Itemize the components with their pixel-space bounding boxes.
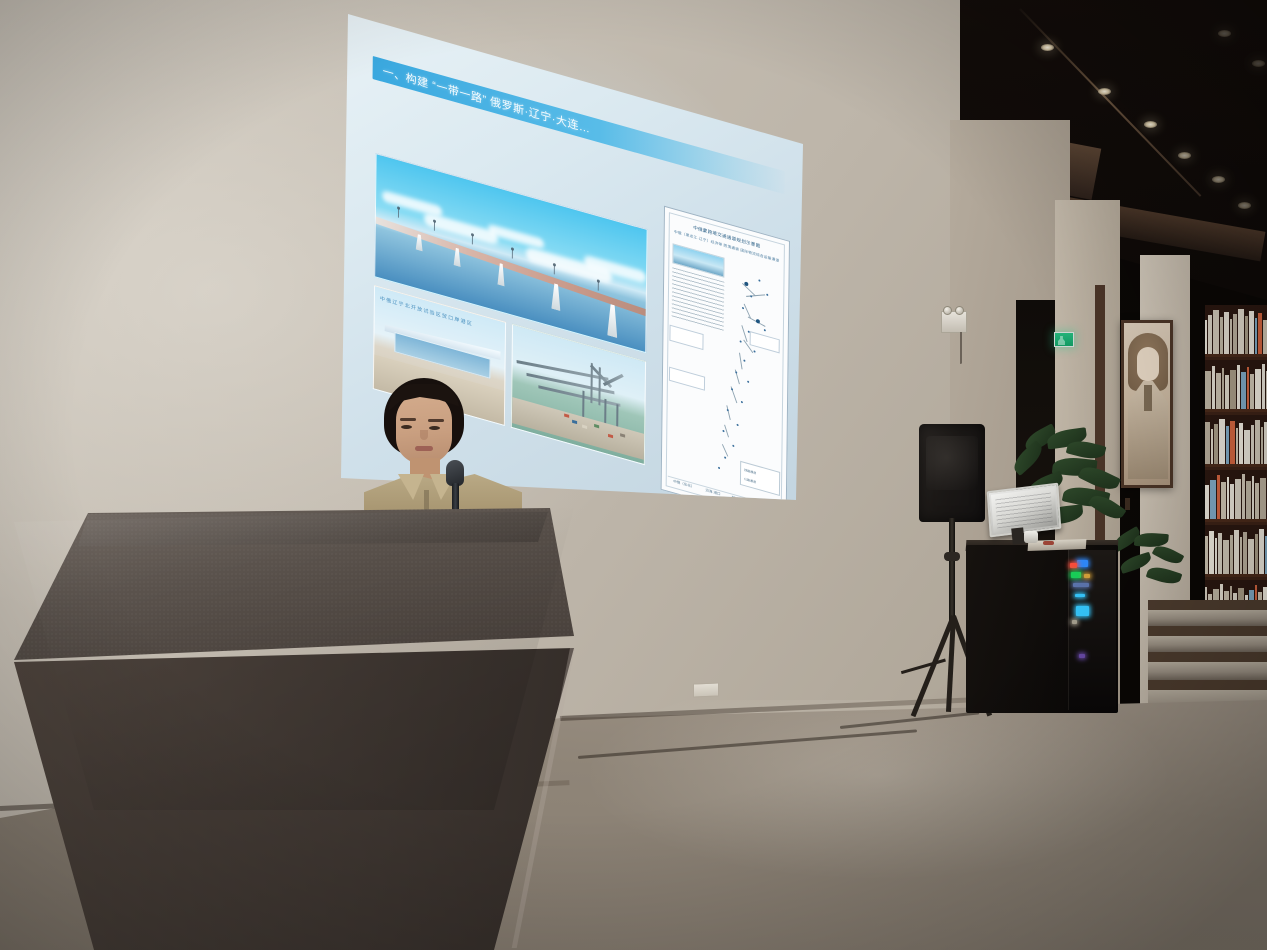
book <box>1230 370 1236 409</box>
book <box>1240 537 1242 574</box>
ceiling-downlight <box>1218 30 1231 37</box>
book <box>1205 536 1208 574</box>
book <box>1209 531 1214 574</box>
book <box>1255 318 1257 354</box>
book <box>1224 312 1229 354</box>
book <box>1230 535 1233 574</box>
status-led <box>1076 606 1089 616</box>
ceiling-downlight <box>1212 176 1225 183</box>
book <box>1255 483 1259 519</box>
bookshelf-shelf <box>1205 525 1267 577</box>
ceiling-downlight <box>1178 152 1191 159</box>
preview-monitor[interactable] <box>987 483 1062 538</box>
ceiling-downlight <box>1041 44 1054 51</box>
book <box>1242 474 1245 519</box>
book <box>1211 429 1213 464</box>
book <box>1205 320 1207 354</box>
book <box>1220 317 1223 354</box>
book <box>1252 476 1254 519</box>
ceiling-downlight <box>1098 88 1111 95</box>
book <box>1230 421 1235 464</box>
podium <box>14 508 574 950</box>
book <box>1212 366 1215 409</box>
slide-map-poster: 中俄蒙跨境交通通道规划示意图 中俄（黑龙江·辽宁）经济带 跨境通道 国际物流综合… <box>661 206 790 525</box>
book <box>1248 539 1254 574</box>
presenter-eye <box>429 426 440 430</box>
book <box>1216 373 1221 409</box>
book <box>1241 372 1246 409</box>
book <box>1236 428 1238 464</box>
book <box>1255 369 1261 409</box>
monitor-screen <box>991 487 1057 533</box>
presenter-nose <box>420 430 428 440</box>
book <box>1210 480 1216 519</box>
port-quay <box>512 397 644 460</box>
speaker-stand-knob[interactable] <box>944 552 960 561</box>
map-footer-item: 沿海·港口 <box>705 488 720 497</box>
status-led <box>1073 583 1089 587</box>
book <box>1249 311 1254 354</box>
book <box>1226 426 1229 464</box>
status-led <box>1070 563 1077 568</box>
book <box>1237 365 1240 409</box>
book <box>1230 319 1232 354</box>
status-led <box>1071 572 1081 578</box>
speaker-stand-pole <box>949 518 955 626</box>
book <box>1233 314 1237 354</box>
status-led <box>1077 560 1088 567</box>
book <box>1219 419 1225 464</box>
book <box>1255 420 1260 464</box>
bookshelf-shelf <box>1205 305 1267 357</box>
ceiling-downlight <box>1238 202 1251 209</box>
book <box>1230 484 1234 519</box>
book <box>1223 540 1229 574</box>
book <box>1205 422 1210 464</box>
book <box>1259 529 1264 574</box>
map-legend-item: 公路通道 <box>744 477 756 484</box>
floor-reflection <box>560 700 1267 950</box>
ceiling-downlight <box>1252 60 1265 67</box>
status-led <box>1079 654 1085 658</box>
bookshelf-shelf <box>1205 470 1267 522</box>
map-legend-item: 铁路通道 <box>744 468 756 475</box>
stair-riser <box>1148 680 1267 690</box>
book <box>1208 315 1212 354</box>
pa-speaker <box>919 424 985 522</box>
book <box>1238 309 1244 354</box>
monitor-content-lines <box>995 492 1053 529</box>
book <box>1205 485 1209 519</box>
presenter-brow <box>400 418 416 421</box>
stair-riser <box>1148 652 1267 662</box>
book <box>1255 534 1258 574</box>
book <box>1227 477 1229 519</box>
book <box>1215 538 1217 574</box>
portrait-tie <box>1144 385 1152 411</box>
book <box>1214 424 1218 464</box>
book <box>1258 313 1262 354</box>
photo-scene: 一、构建 “一带一路” 俄罗斯·辽宁·大连… <box>0 0 1267 950</box>
wall-junction-box <box>941 311 967 333</box>
status-led <box>1084 574 1090 578</box>
portrait-face <box>1137 347 1159 381</box>
av-rack-panel <box>1068 550 1116 710</box>
book <box>1250 374 1254 409</box>
junction-knob-icon <box>955 306 964 315</box>
status-led <box>1072 620 1077 624</box>
bookshelf-shelf <box>1205 415 1267 467</box>
book <box>1262 364 1265 409</box>
rack-small-device[interactable] <box>1024 531 1038 543</box>
book <box>1225 375 1229 409</box>
book <box>1205 371 1211 409</box>
book <box>1247 367 1249 409</box>
ceiling-downlight <box>1144 121 1157 128</box>
book <box>1261 427 1263 464</box>
junction-knob-icon <box>943 306 952 315</box>
book <box>1221 482 1226 519</box>
potted-plant-secondary <box>1112 530 1192 640</box>
book <box>1213 310 1219 354</box>
wall-power-socket[interactable] <box>693 682 719 697</box>
map-footer-item: 跨境大通道 <box>732 496 750 506</box>
book <box>1246 481 1251 519</box>
presenter-eye <box>401 425 412 429</box>
slide-title: 一、构建 “一带一路” 俄罗斯·辽宁·大连… <box>373 59 591 136</box>
book <box>1234 530 1239 574</box>
book <box>1245 316 1248 354</box>
bookshelf-shelf <box>1205 360 1267 412</box>
rack-red-indicator <box>1043 541 1054 545</box>
exit-sign <box>1054 332 1074 347</box>
book <box>1243 532 1247 574</box>
book <box>1251 425 1254 464</box>
book <box>1263 320 1267 354</box>
book <box>1244 430 1250 464</box>
presenter-brow <box>428 419 444 422</box>
book <box>1218 533 1222 574</box>
book <box>1235 479 1241 519</box>
book <box>1217 475 1220 519</box>
presenter-mouth <box>415 446 433 451</box>
book <box>1260 478 1266 519</box>
status-led <box>1075 594 1085 597</box>
book <box>1239 423 1243 464</box>
book <box>1222 368 1224 409</box>
junction-box-cable <box>960 332 963 364</box>
monitor-stand <box>1011 527 1025 544</box>
stair-step <box>1148 662 1267 680</box>
